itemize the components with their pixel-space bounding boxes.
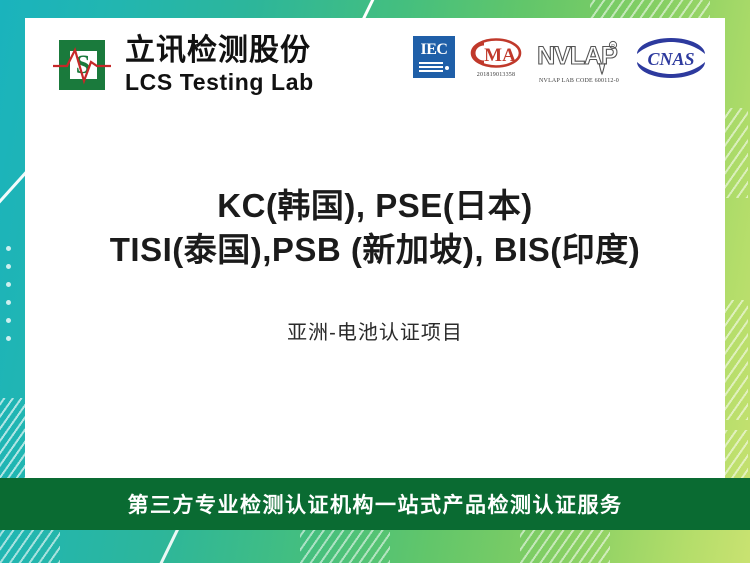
badge-cma: MA 201819013358: [469, 36, 523, 78]
svg-text:R: R: [611, 44, 615, 50]
main-content: KC(韩国), PSE(日本) TISI(泰国),PSB (新加坡), BIS(…: [25, 126, 725, 482]
accreditation-badges: IEC MA: [413, 36, 707, 84]
badge-caption: 201819013358: [477, 72, 515, 78]
lcs-logo-icon: S: [53, 36, 111, 94]
badge-caption: NVLAP LAB CODE 600112-0: [539, 78, 619, 84]
cnas-badge-icon: CNAS: [635, 36, 707, 80]
brand-text: 立讯检测股份 LCS Testing Lab: [125, 36, 314, 94]
bottom-banner: 第三方专业检测认证机构一站式产品检测认证服务: [0, 478, 750, 530]
badge-iec: IEC: [413, 36, 455, 80]
title-line-1: KC(韩国), PSE(日本): [110, 184, 640, 228]
header: S 立讯检测股份 LCS Testing Lab IEC: [25, 18, 725, 126]
cma-badge-icon: MA: [469, 36, 523, 70]
poster-root: S 立讯检测股份 LCS Testing Lab IEC: [0, 0, 750, 563]
iec-badge-icon: IEC: [413, 36, 455, 78]
badge-cnas: CNAS: [635, 36, 707, 82]
diagonal-stripes-decoration: [0, 527, 60, 563]
brand-name-en: LCS Testing Lab: [125, 71, 314, 94]
svg-text:NVLAP: NVLAP: [537, 42, 617, 70]
banner-text: 第三方专业检测认证机构一站式产品检测认证服务: [128, 489, 623, 519]
nvlap-badge-icon: NVLAP R: [537, 36, 621, 76]
svg-text:MA: MA: [484, 45, 516, 66]
title-block: KC(韩国), PSE(日本) TISI(泰国),PSB (新加坡), BIS(…: [110, 184, 640, 272]
brand-lockup: S 立讯检测股份 LCS Testing Lab: [53, 36, 314, 94]
brand-name-cn: 立讯检测股份: [125, 36, 314, 66]
slash-decoration: [158, 525, 181, 563]
diagonal-stripes-decoration: [520, 529, 610, 563]
title-line-2: TISI(泰国),PSB (新加坡), BIS(印度): [110, 228, 640, 272]
content-card: S 立讯检测股份 LCS Testing Lab IEC: [25, 18, 725, 482]
subtitle: 亚洲-电池认证项目: [287, 316, 463, 345]
svg-text:CNAS: CNAS: [647, 49, 694, 69]
diagonal-stripes-decoration: [300, 529, 390, 563]
badge-nvlap: NVLAP R NVLAP LAB CODE 600112-0: [537, 36, 621, 84]
